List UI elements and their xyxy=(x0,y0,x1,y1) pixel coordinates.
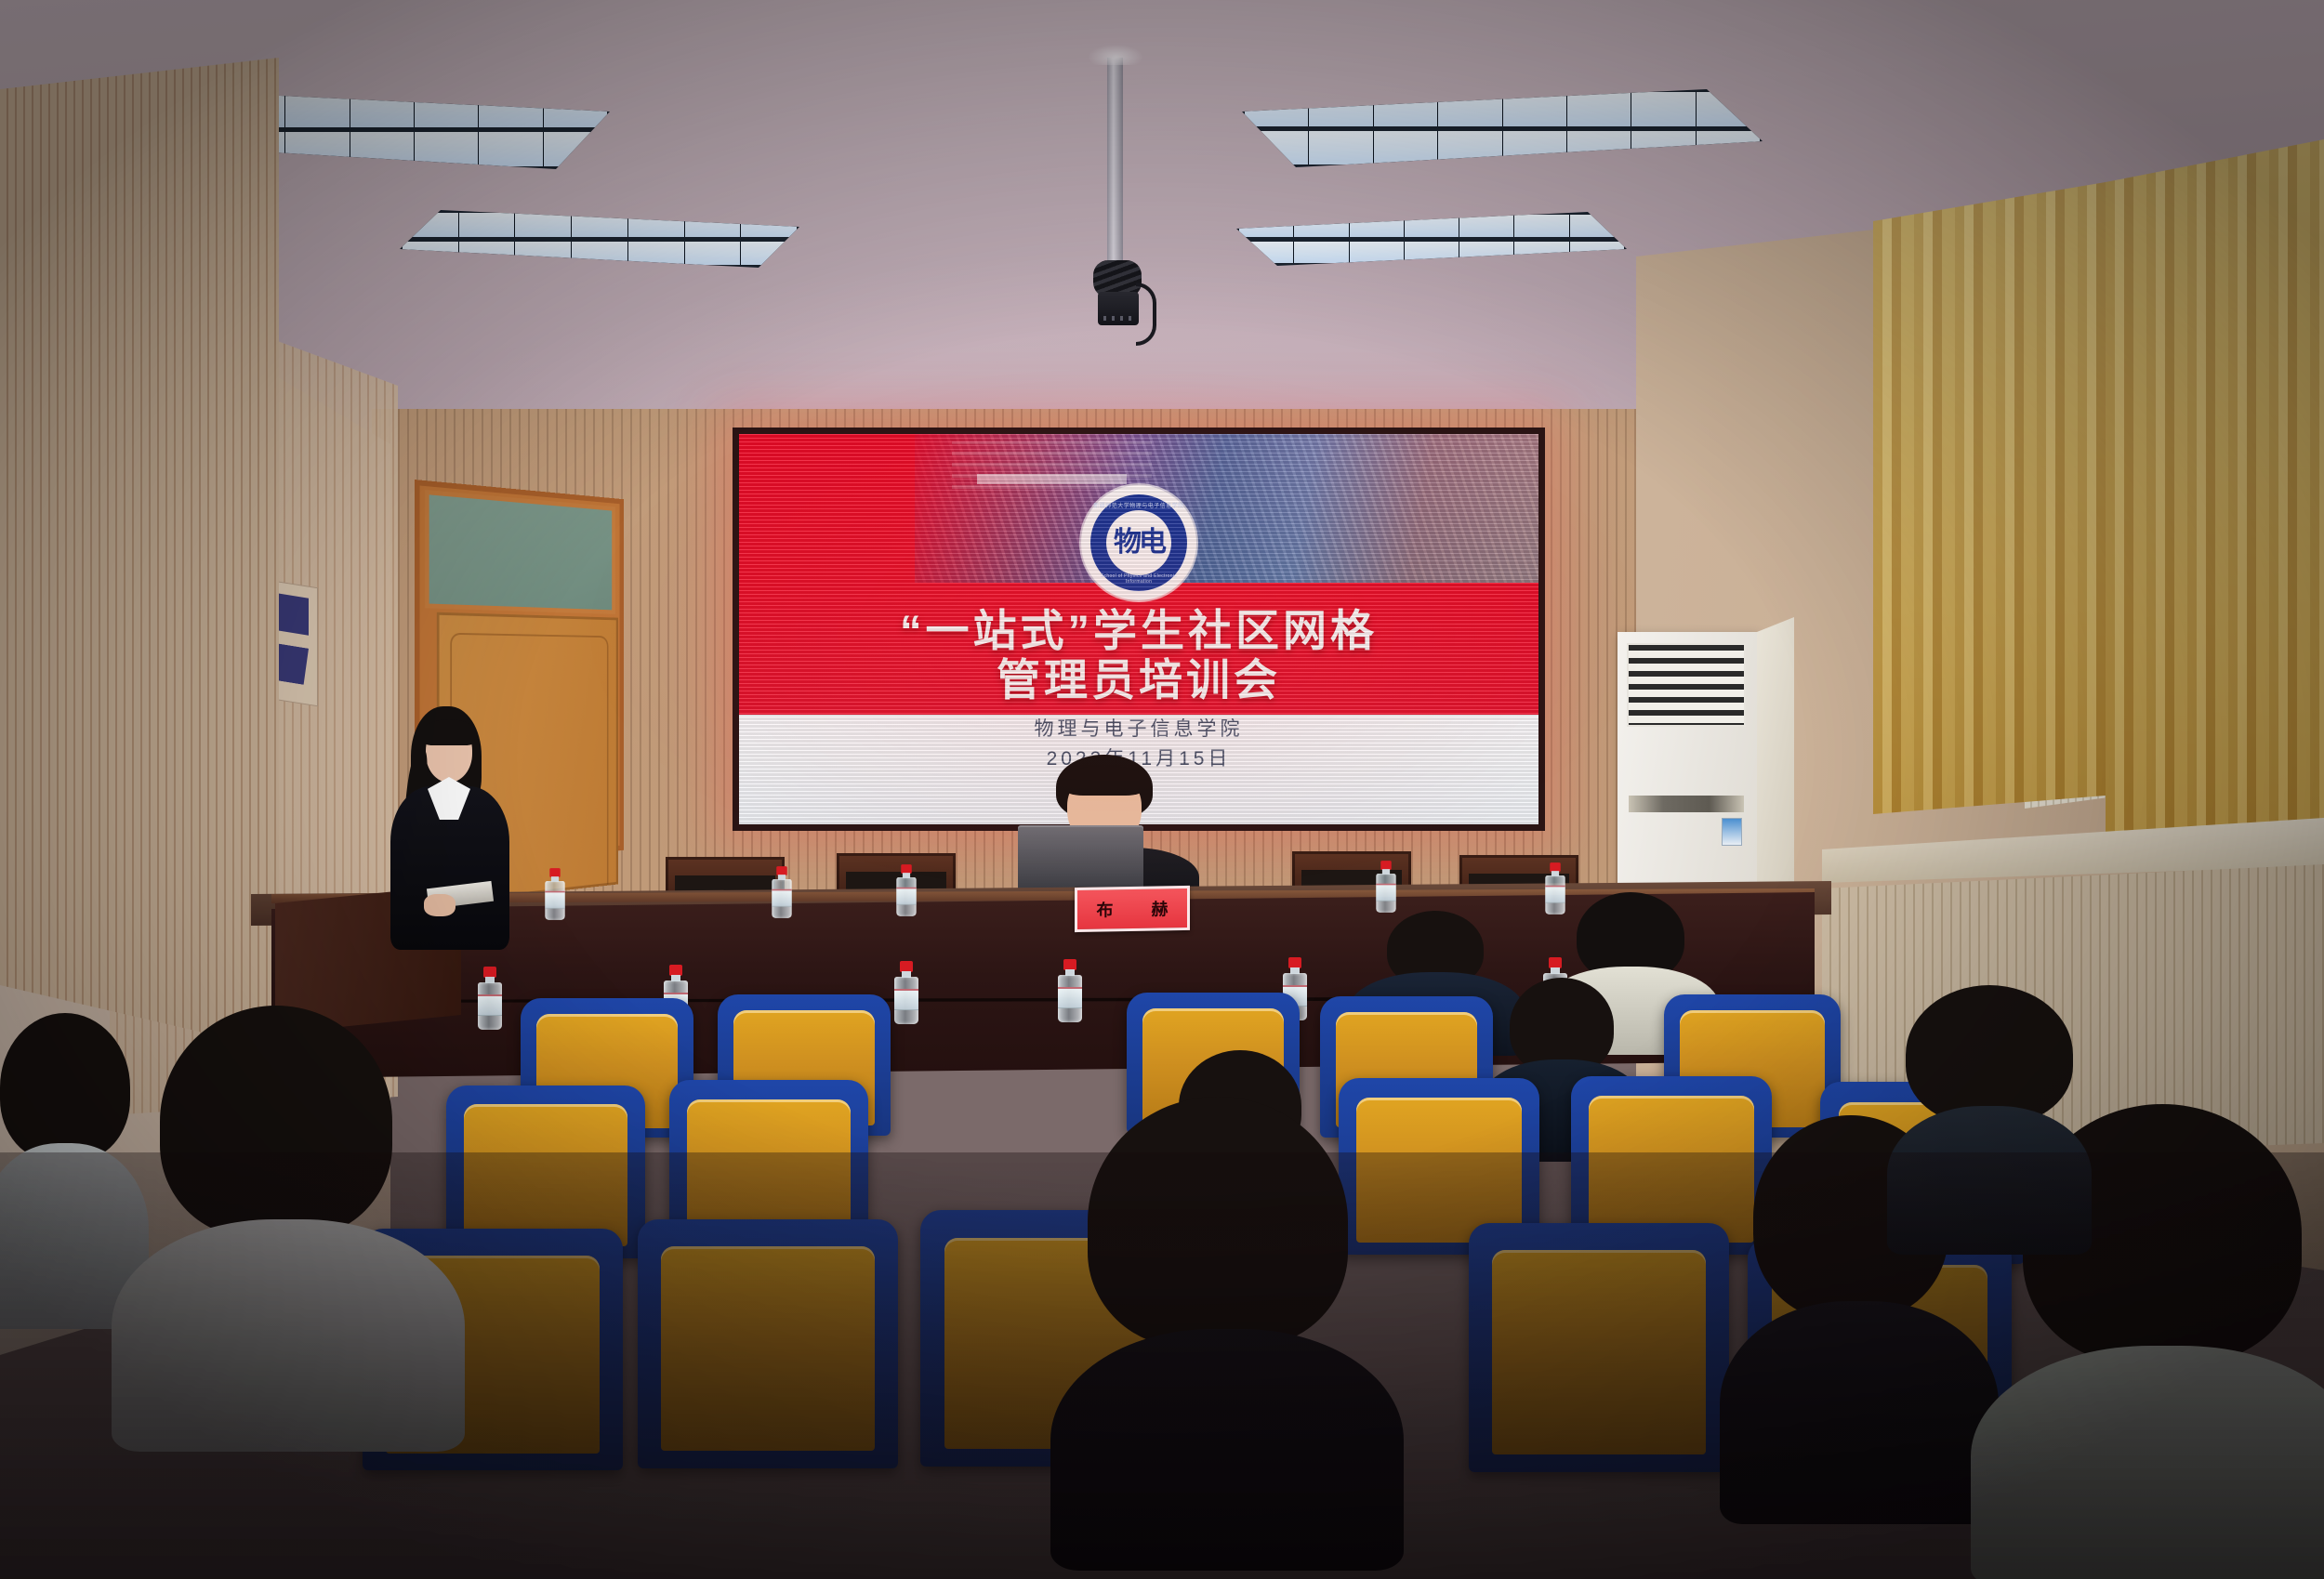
energy-label-badge xyxy=(1722,818,1742,846)
audience-member xyxy=(0,1013,139,1301)
name-plate-char2: 赫 xyxy=(1152,896,1169,920)
water-bottle[interactable] xyxy=(894,961,918,1024)
water-bottle[interactable] xyxy=(1058,959,1082,1022)
school-emblem-icon: 新疆师范大学物理与电子信息学院 物电 School of Physics and… xyxy=(1081,485,1196,600)
air-conditioner-vents xyxy=(1627,643,1746,727)
air-conditioner-display xyxy=(1629,796,1744,812)
water-bottle[interactable] xyxy=(1376,861,1395,913)
slide-background-photo xyxy=(915,434,1538,583)
audience-member xyxy=(1887,985,2092,1227)
presenter-laptop[interactable] xyxy=(1018,825,1143,890)
switch-panel-upper[interactable] xyxy=(277,593,309,635)
slide-title: “一站式”学生社区网格 管理员培训会 xyxy=(739,606,1538,705)
standing-presenter xyxy=(379,706,519,948)
auditorium-seat[interactable] xyxy=(638,1219,898,1468)
speaker-fringe xyxy=(1063,766,1145,796)
name-plate: 布 赫 xyxy=(1075,886,1190,932)
meeting-room-photo: …十项准则 新疆师范大学物理与 xyxy=(0,0,2324,1579)
presenter-hand xyxy=(424,894,456,916)
camera-mount-pole xyxy=(1107,58,1123,271)
slide-subtitle-org: 物理与电子信息学院 xyxy=(739,715,1538,744)
door-transom-window xyxy=(425,490,615,614)
emblem-ring-text-cn: 新疆师范大学物理与电子信息学院 xyxy=(1090,501,1187,509)
audience-member xyxy=(1069,1097,1376,1487)
auditorium-seat[interactable] xyxy=(1469,1223,1729,1472)
presenter-fringe xyxy=(422,719,476,745)
switch-panel-lower[interactable] xyxy=(277,643,309,685)
water-bottle[interactable] xyxy=(896,864,916,916)
right-wall-slats xyxy=(0,0,279,1097)
water-bottle[interactable] xyxy=(545,868,564,920)
ceiling-camera-icon xyxy=(1098,292,1139,325)
emblem-ring-text-en: School of Physics and Electronic Informa… xyxy=(1090,573,1187,585)
name-plate-char1: 布 xyxy=(1097,897,1114,921)
water-bottle[interactable] xyxy=(478,967,502,1030)
window-curtain[interactable] xyxy=(2106,139,2324,846)
water-bottle[interactable] xyxy=(772,866,791,918)
window-curtain[interactable] xyxy=(1873,182,2106,814)
slide-title-line1: “一站式”学生社区网格 xyxy=(739,606,1538,656)
slide-title-line2: 管理员培训会 xyxy=(739,655,1538,705)
audience-member xyxy=(139,1006,418,1377)
slide-building-sign xyxy=(977,474,1127,484)
emblem-monogram: 物电 xyxy=(1114,529,1164,557)
